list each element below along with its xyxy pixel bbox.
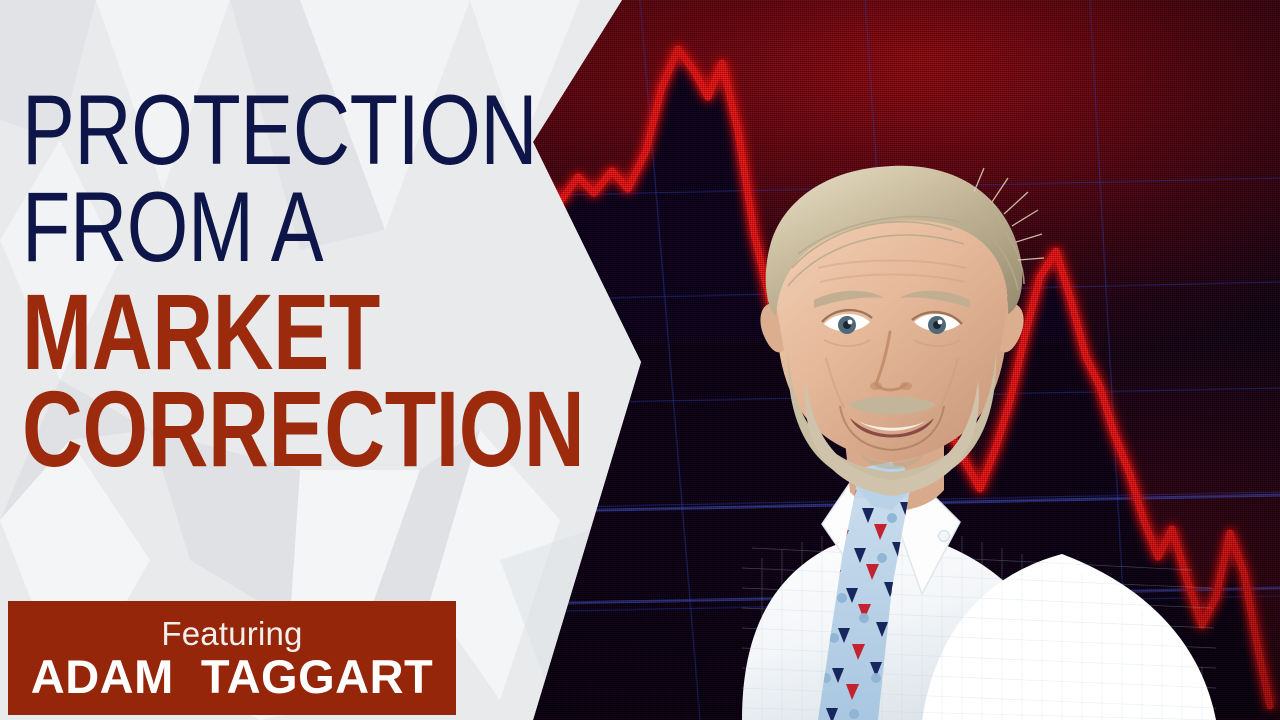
headline-line-2: FROM A	[22, 179, 470, 274]
youtube-thumbnail: PROTECTION FROM A MARKET CORRECTION Feat…	[0, 0, 1280, 720]
featuring-banner: Featuring ADAM TAGGART	[8, 601, 456, 715]
guest-name: ADAM TAGGART	[31, 653, 433, 701]
headline: PROTECTION FROM A MARKET CORRECTION	[22, 82, 582, 479]
featuring-label: Featuring	[161, 617, 302, 650]
headline-line-4: CORRECTION	[22, 379, 459, 479]
guest-portrait	[592, 118, 1232, 720]
headline-line-1: PROTECTION	[22, 82, 470, 177]
